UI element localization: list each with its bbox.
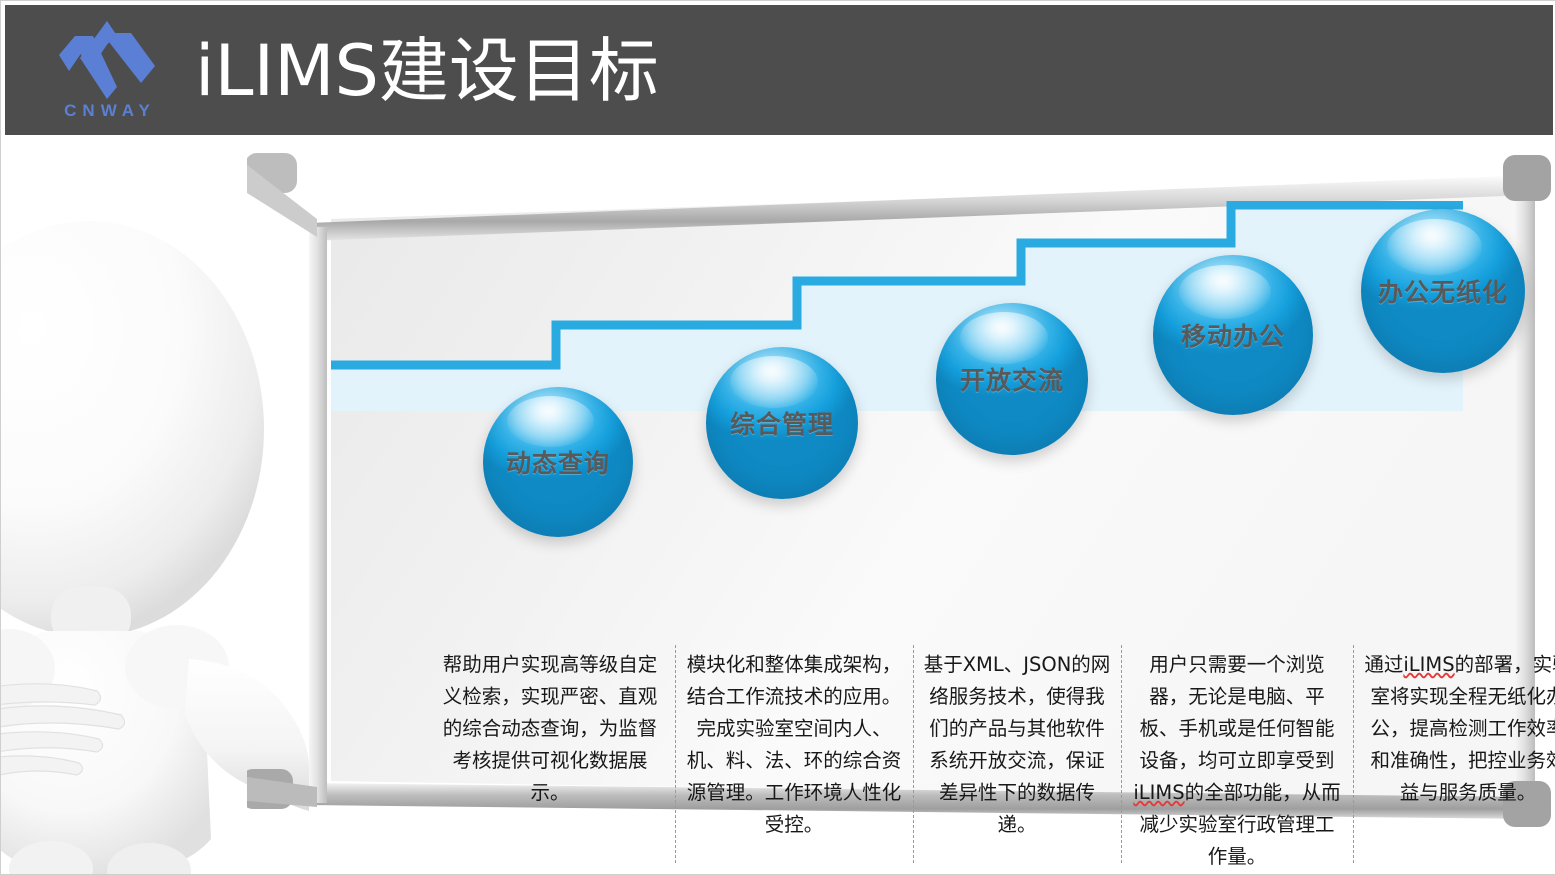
description-column-1: 帮助用户实现高等级自定义检索，实现严密、直观的综合动态查询，为监督考核提供可视化… [425,649,675,867]
whiteboard: 动态查询 综合管理 开放交流 移动办公 办公无纸化 帮助用户实现高等级自定义检索… [247,141,1553,841]
description-column-5: 通过iLIMS的部署，实验室将实现全程无纸化办公，提高检测工作效率和准确性，把控… [1353,649,1556,867]
step-sphere-2[interactable]: 综合管理 [706,347,858,499]
page-title: iLIMS建设目标 [195,21,659,121]
step-sphere-label-5: 办公无纸化 [1378,273,1508,309]
step-sphere-label-4: 移动办公 [1181,317,1285,353]
brand-logo-text: CNWAY [49,101,165,121]
description-columns: 帮助用户实现高等级自定义检索，实现严密、直观的综合动态查询，为监督考核提供可视化… [425,649,1556,867]
step-sphere-5[interactable]: 办公无纸化 [1361,209,1525,373]
board-content: 动态查询 综合管理 开放交流 移动办公 办公无纸化 帮助用户实现高等级自定义检索… [331,201,1527,821]
brand-logo: CNWAY [49,17,165,129]
description-column-2: 模块化和整体集成架构，结合工作流技术的应用。完成实验室空间内人、机、料、法、环的… [675,649,913,867]
slide-canvas: CNWAY iLIMS建设目标 [0,0,1556,875]
description-text-before-4: 用户只需要一个浏览器，无论是电脑、平板、手机或是任何智能设备，均可立即享受到 [1139,653,1334,772]
description-text-before-5: 通过 [1364,653,1403,676]
step-sphere-4[interactable]: 移动办公 [1153,255,1313,415]
slide-header: CNWAY iLIMS建设目标 [5,5,1553,135]
misspelled-word-5: iLIMS [1403,653,1454,676]
misspelled-word-4: iLIMS [1133,781,1184,804]
step-sphere-label-1: 动态查询 [506,444,610,480]
description-column-4: 用户只需要一个浏览器，无论是电脑、平板、手机或是任何智能设备，均可立即享受到iL… [1121,649,1353,867]
step-sphere-3[interactable]: 开放交流 [936,303,1088,455]
step-sphere-label-2: 综合管理 [730,405,834,441]
cnway-chevron-logo-icon [53,19,161,99]
step-sphere-label-3: 开放交流 [960,361,1064,397]
step-sphere-1[interactable]: 动态查询 [483,387,633,537]
description-column-3: 基于XML、JSON的网络服务技术，使得我们的产品与其他软件系统开放交流，保证差… [913,649,1121,867]
